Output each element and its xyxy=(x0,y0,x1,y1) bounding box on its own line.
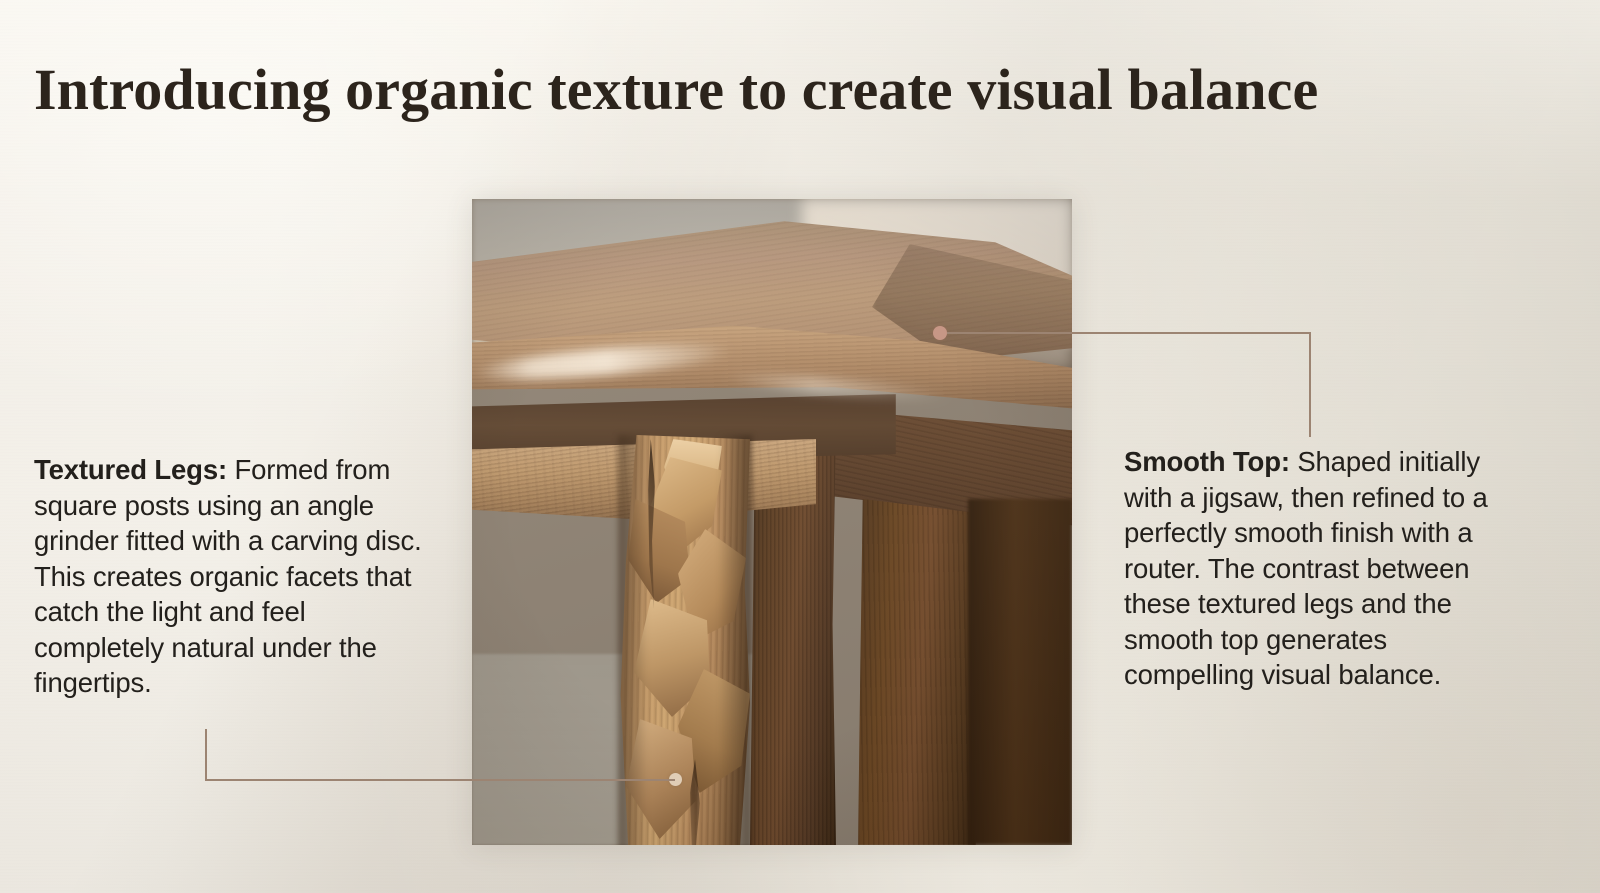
page-title: Introducing organic texture to create vi… xyxy=(34,58,1574,123)
callout-dot-smooth-top xyxy=(933,326,947,340)
annotation-textured-legs: Textured Legs: Formed from square posts … xyxy=(34,452,429,701)
product-photo xyxy=(472,199,1072,845)
annotation-smooth-top-label: Smooth Top: xyxy=(1124,446,1290,477)
photo-vignette xyxy=(472,199,1072,845)
slide-canvas: Introducing organic texture to create vi… xyxy=(0,0,1600,893)
callout-line-smooth-top-vertical xyxy=(1309,332,1311,437)
annotation-smooth-top-body: Shaped initially with a jigsaw, then ref… xyxy=(1124,446,1488,690)
annotation-textured-legs-body: Formed from square posts using an angle … xyxy=(34,454,422,698)
annotation-textured-legs-label: Textured Legs: xyxy=(34,454,227,485)
callout-line-smooth-top-horizontal xyxy=(947,332,1310,334)
annotation-smooth-top: Smooth Top: Shaped initially with a jigs… xyxy=(1124,444,1524,693)
callout-line-textured-legs-horizontal xyxy=(205,779,675,781)
callout-line-textured-legs-vertical xyxy=(205,729,207,780)
